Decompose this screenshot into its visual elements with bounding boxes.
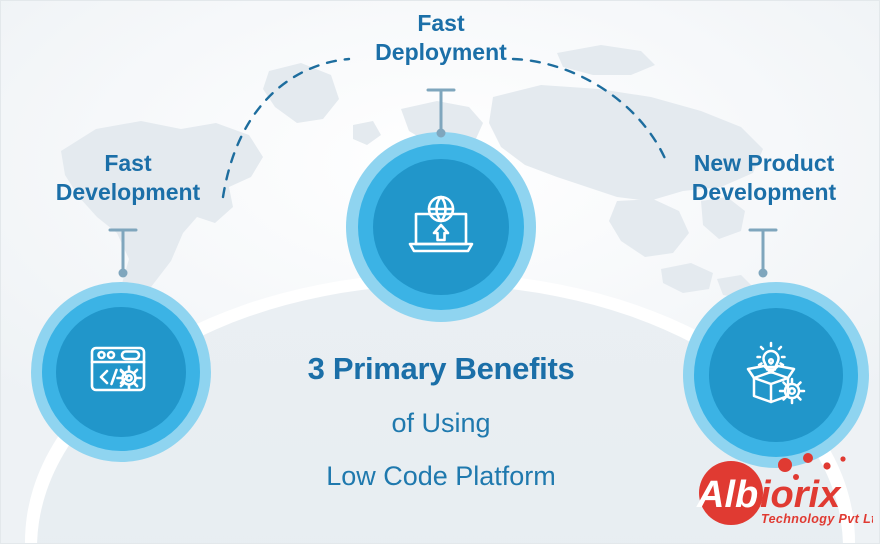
- logo-brand-part2: iorix: [760, 474, 842, 516]
- infographic-canvas: Fast Development Fast Deployment New Pro…: [0, 0, 880, 544]
- albiorix-logo[interactable]: Alb iorix Technology Pvt Ltd: [677, 449, 873, 533]
- label-line-1: New Product: [649, 149, 879, 178]
- label-line-2: Deployment: [311, 38, 571, 67]
- label-new-product-development: New Product Development: [649, 149, 879, 208]
- laptop-globe-upload-icon: [402, 188, 480, 266]
- logo-brand-part1: Alb: [696, 474, 758, 516]
- label-line-1: Fast: [13, 149, 243, 178]
- label-fast-development: Fast Development: [13, 149, 243, 208]
- logo-graphic: Alb iorix Technology Pvt Ltd: [677, 449, 873, 533]
- label-fast-deployment: Fast Deployment: [311, 9, 571, 68]
- benefit-node-fast-deployment[interactable]: [346, 132, 536, 322]
- logo-tagline: Technology Pvt Ltd: [761, 512, 873, 526]
- label-line-1: Fast: [311, 9, 571, 38]
- label-line-2: Development: [13, 178, 243, 207]
- title-line-1: 3 Primary Benefits: [1, 353, 880, 384]
- label-line-2: Development: [649, 178, 879, 207]
- pin-fast-deployment: [421, 83, 461, 143]
- title-line-2: of Using: [1, 410, 880, 437]
- pin-new-product-development: [743, 223, 783, 283]
- node-ring-inner: [373, 159, 509, 295]
- pin-fast-development: [103, 223, 143, 283]
